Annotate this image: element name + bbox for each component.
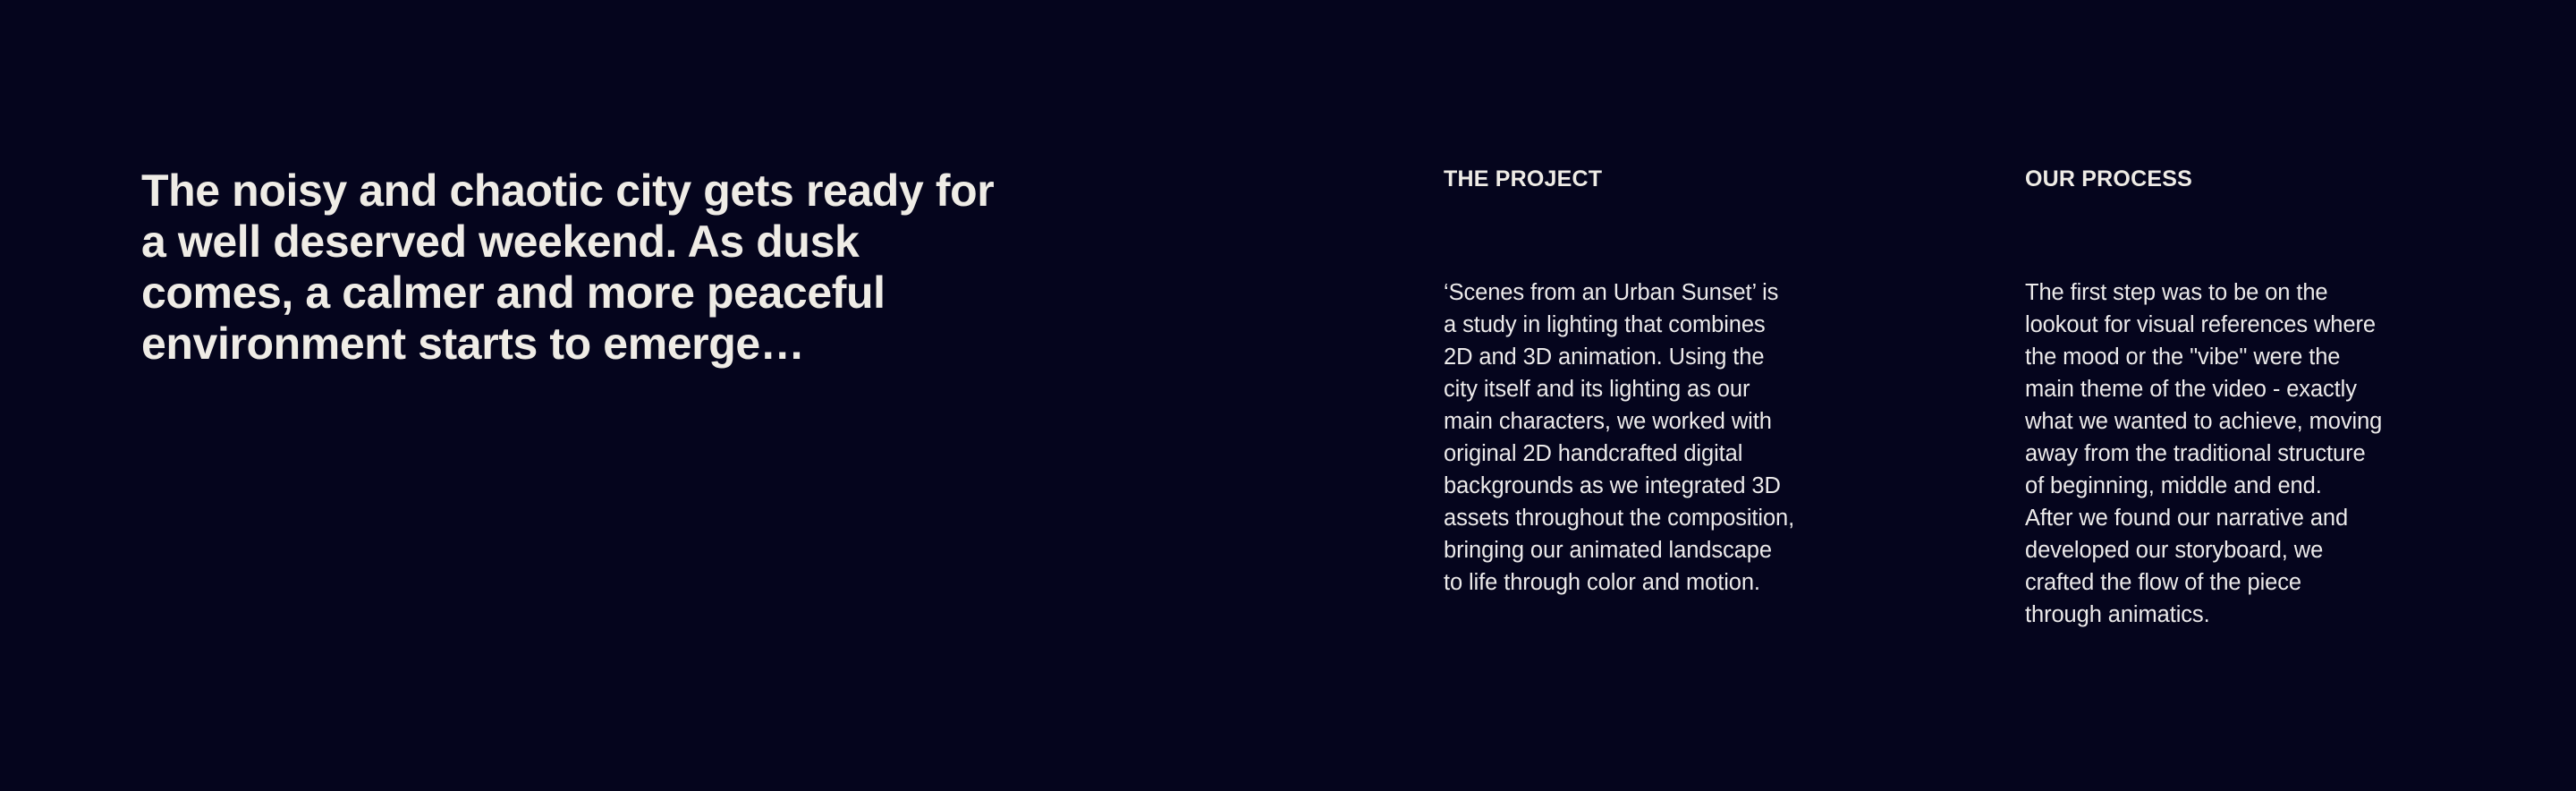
headline-block: The noisy and chaotic city gets ready fo…	[141, 166, 1143, 370]
process-column-body: The first step was to be on the lookout …	[2025, 276, 2508, 631]
page-root: The noisy and chaotic city gets ready fo…	[0, 0, 2576, 791]
process-column: OUR PROCESS The first step was to be on …	[2025, 166, 2508, 631]
project-column-heading: THE PROJECT	[1444, 166, 1927, 192]
project-column-body: ‘Scenes from an Urban Sunset’ is a study…	[1444, 276, 1927, 599]
process-column-heading: OUR PROCESS	[2025, 166, 2508, 192]
page-title: The noisy and chaotic city gets ready fo…	[141, 166, 1143, 370]
project-column: THE PROJECT ‘Scenes from an Urban Sunset…	[1444, 166, 1927, 599]
